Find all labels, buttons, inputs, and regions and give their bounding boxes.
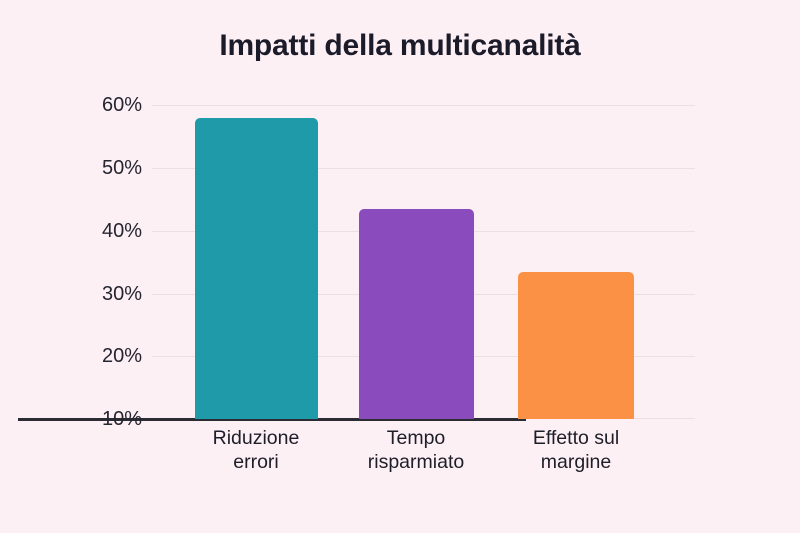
x-category-label-1: Tempo risparmiato <box>336 427 496 475</box>
x-category-label-1-line-2: risparmiato <box>336 451 496 475</box>
bar-chart: Impatti della multicanalità 60% 50% 40% … <box>0 0 800 533</box>
x-category-label-0: Riduzione errori <box>176 427 336 475</box>
x-category-label-0-line-2: errori <box>176 451 336 475</box>
x-category-label-2-line-2: margine <box>496 451 656 475</box>
bar-riduzione-errori[interactable] <box>195 118 318 419</box>
x-category-label-1-line-1: Tempo <box>336 427 496 451</box>
x-category-label-2: Effetto sul margine <box>496 427 656 475</box>
bar-tempo-risparmiato[interactable] <box>359 209 474 419</box>
x-category-label-2-line-1: Effetto sul <box>496 427 656 451</box>
bar-effetto-sul-margine[interactable] <box>518 272 634 419</box>
x-category-label-0-line-1: Riduzione <box>176 427 336 451</box>
